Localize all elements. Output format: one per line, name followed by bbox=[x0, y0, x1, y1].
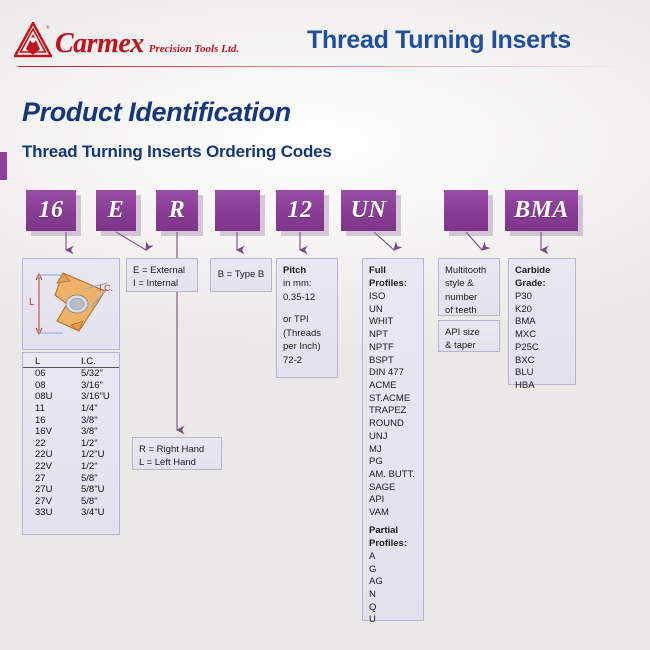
pitch-title: Pitch bbox=[283, 264, 331, 277]
insert-diagram: I.C. L bbox=[22, 258, 120, 350]
cell-l: 27V bbox=[23, 496, 75, 508]
carbide-grade-list: P30K20BMAMXCP25CBXCBLUHBA bbox=[515, 291, 569, 393]
brand-name: Carmex bbox=[55, 30, 144, 58]
header-divider bbox=[18, 66, 632, 67]
box-direction: R = Right Hand L = Left Hand bbox=[132, 437, 222, 470]
table-row: 22V1/2" bbox=[23, 461, 119, 473]
box-pitch: Pitch in mm: 0.35-12 or TPI (Threads per… bbox=[276, 258, 338, 378]
box-carbide-grade: Carbide Grade: P30K20BMAMXCP25CBXCBLUHBA bbox=[508, 258, 576, 385]
list-item: Q bbox=[369, 602, 417, 615]
list-item: UN bbox=[369, 304, 417, 317]
page-header: ® Carmex Precision Tools Ltd. Thread Tur… bbox=[0, 0, 650, 72]
col-header-ic: I.C. bbox=[75, 356, 119, 368]
list-item: HBA bbox=[515, 380, 569, 393]
list-item: NPT bbox=[369, 329, 417, 342]
full-profiles-title-1: Full bbox=[369, 264, 417, 277]
col-header-l: L bbox=[23, 356, 75, 368]
code-box-multitooth[interactable] bbox=[444, 190, 488, 231]
carbide-title-2: Grade: bbox=[515, 277, 569, 290]
list-item: MJ bbox=[369, 444, 417, 457]
list-item: BLU bbox=[515, 367, 569, 380]
list-item: A bbox=[369, 551, 417, 564]
list-item: P25C bbox=[515, 342, 569, 355]
pitch-tpi-label: or TPI bbox=[283, 313, 331, 326]
svg-text:®: ® bbox=[46, 25, 50, 31]
box-profiles: Full Profiles: ISOUNWHITNPTNPTFBSPTDIN 4… bbox=[362, 258, 424, 621]
insert-ic-label: I.C. bbox=[99, 283, 113, 293]
pitch-mm-range: 0.35-12 bbox=[283, 291, 331, 304]
table-row: 163/8" bbox=[23, 414, 119, 426]
cell-ic: 1/4" bbox=[75, 403, 119, 415]
list-item: N bbox=[369, 589, 417, 602]
cell-l: 22U bbox=[23, 449, 75, 461]
list-item: MXC bbox=[515, 329, 569, 342]
cell-l: 16V bbox=[23, 426, 75, 438]
list-item: NPTF bbox=[369, 342, 417, 355]
table-row: 33U3/4"U bbox=[23, 507, 119, 519]
table-row: 275/8" bbox=[23, 472, 119, 484]
size-table: L I.C. 065/32"083/16"08U3/16"U111/4"163/… bbox=[22, 352, 120, 535]
cell-ic: 5/8" bbox=[75, 472, 119, 484]
cell-l: 16 bbox=[23, 414, 75, 426]
table-header-row: L I.C. bbox=[23, 356, 119, 368]
box-hand-type: E = External I = Internal bbox=[126, 258, 198, 292]
accent-bar bbox=[0, 152, 7, 180]
list-item: API bbox=[369, 494, 417, 507]
multitooth-line-3: number bbox=[445, 291, 493, 304]
code-box-size[interactable]: 16 bbox=[26, 190, 76, 231]
code-box-hand-type[interactable]: E bbox=[96, 190, 136, 231]
list-item: UNJ bbox=[369, 431, 417, 444]
insert-shape-icon bbox=[23, 259, 119, 349]
list-item: WHIT bbox=[369, 316, 417, 329]
pitch-tpi-note2: per Inch) bbox=[283, 340, 331, 353]
code-box-type[interactable] bbox=[215, 190, 260, 231]
list-item: P30 bbox=[515, 291, 569, 304]
cell-ic: 3/8" bbox=[75, 414, 119, 426]
code-box-pitch[interactable]: 12 bbox=[276, 190, 324, 231]
box-multitooth: Multitooth style & number of teeth bbox=[438, 258, 500, 316]
cell-l: 11 bbox=[23, 403, 75, 415]
partial-profiles-title-1: Partial bbox=[369, 524, 417, 537]
full-profiles-title-2: Profiles: bbox=[369, 277, 417, 290]
cell-ic: 1/2" bbox=[75, 461, 119, 473]
partial-profiles-list: AGAGNQU bbox=[369, 551, 417, 627]
cell-l: 22V bbox=[23, 461, 75, 473]
cell-ic: 5/32" bbox=[75, 368, 119, 380]
table-row: 16V3/8" bbox=[23, 426, 119, 438]
table-row: 22U1/2"U bbox=[23, 449, 119, 461]
page-title: Product Identification bbox=[22, 97, 291, 128]
direction-left: L = Left Hand bbox=[139, 456, 215, 469]
table-row: 08U3/16"U bbox=[23, 391, 119, 403]
multitooth-line-1: Multitooth bbox=[445, 264, 493, 277]
list-item: ROUND bbox=[369, 418, 417, 431]
page-subtitle: Thread Turning Inserts Ordering Codes bbox=[22, 142, 332, 162]
table-row: 27U5/8"U bbox=[23, 484, 119, 496]
multitooth-line-2: style & bbox=[445, 277, 493, 290]
cell-ic: 3/8" bbox=[75, 426, 119, 438]
cell-l: 08U bbox=[23, 391, 75, 403]
list-item: K20 bbox=[515, 304, 569, 317]
full-profiles-list: ISOUNWHITNPTNPTFBSPTDIN 477ACMEST.ACMETR… bbox=[369, 291, 417, 520]
api-line-2: & taper bbox=[445, 339, 493, 352]
list-item: AM. BUTT. bbox=[369, 469, 417, 482]
table-row: 083/16" bbox=[23, 380, 119, 392]
pitch-mm-label: in mm: bbox=[283, 277, 331, 290]
list-item: AG bbox=[369, 576, 417, 589]
multitooth-line-4: of teeth bbox=[445, 304, 493, 317]
cell-l: 22 bbox=[23, 438, 75, 450]
list-item: DIN 477 bbox=[369, 367, 417, 380]
code-box-profile[interactable]: UN bbox=[341, 190, 396, 231]
partial-profiles-title-2: Profiles: bbox=[369, 537, 417, 550]
box-api: API size & taper bbox=[438, 320, 500, 352]
cell-ic: 5/8" bbox=[75, 496, 119, 508]
box-type-b: B = Type B bbox=[210, 258, 272, 292]
cell-l: 27U bbox=[23, 484, 75, 496]
hand-type-external: E = External bbox=[133, 264, 191, 277]
list-item: VAM bbox=[369, 507, 417, 520]
brand-logo: ® Carmex Precision Tools Ltd. bbox=[14, 22, 239, 58]
cell-ic: 5/8"U bbox=[75, 484, 119, 496]
cell-l: 06 bbox=[23, 368, 75, 380]
carmex-triangle-logo-icon: ® bbox=[14, 22, 52, 58]
cell-ic: 1/2" bbox=[75, 438, 119, 450]
table-row: 111/4" bbox=[23, 403, 119, 415]
table-row: 221/2" bbox=[23, 438, 119, 450]
list-item: G bbox=[369, 564, 417, 577]
brand-tagline: Precision Tools Ltd. bbox=[149, 44, 239, 55]
header-title: Thread Turning Inserts bbox=[307, 26, 571, 55]
code-box-direction[interactable]: R bbox=[156, 190, 198, 231]
cell-ic: 3/16"U bbox=[75, 391, 119, 403]
list-item: ST.ACME bbox=[369, 393, 417, 406]
code-box-grade[interactable]: BMA bbox=[505, 190, 578, 231]
cell-l: 27 bbox=[23, 472, 75, 484]
api-line-1: API size bbox=[445, 326, 493, 339]
carbide-title-1: Carbide bbox=[515, 264, 569, 277]
cell-ic: 3/16" bbox=[75, 380, 119, 392]
list-item: ACME bbox=[369, 380, 417, 393]
table-row: 27V5/8" bbox=[23, 496, 119, 508]
list-item: BXC bbox=[515, 355, 569, 368]
list-item: ISO bbox=[369, 291, 417, 304]
list-item: BSPT bbox=[369, 355, 417, 368]
direction-right: R = Right Hand bbox=[139, 443, 215, 456]
insert-l-label: L bbox=[29, 297, 35, 308]
list-item: BMA bbox=[515, 316, 569, 329]
page-root: ® Carmex Precision Tools Ltd. Thread Tur… bbox=[0, 0, 650, 650]
cell-l: 08 bbox=[23, 380, 75, 392]
list-item: PG bbox=[369, 456, 417, 469]
hand-type-internal: I = Internal bbox=[133, 277, 191, 290]
list-item: SAGE bbox=[369, 482, 417, 495]
type-b-label: B = Type B bbox=[218, 268, 265, 281]
cell-ic: 3/4"U bbox=[75, 507, 119, 519]
list-item: TRAPEZ bbox=[369, 405, 417, 418]
cell-ic: 1/2"U bbox=[75, 449, 119, 461]
table-row: 065/32" bbox=[23, 368, 119, 380]
pitch-tpi-note1: (Threads bbox=[283, 327, 331, 340]
cell-l: 33U bbox=[23, 507, 75, 519]
pitch-tpi-range: 72-2 bbox=[283, 354, 331, 367]
list-item: U bbox=[369, 614, 417, 627]
